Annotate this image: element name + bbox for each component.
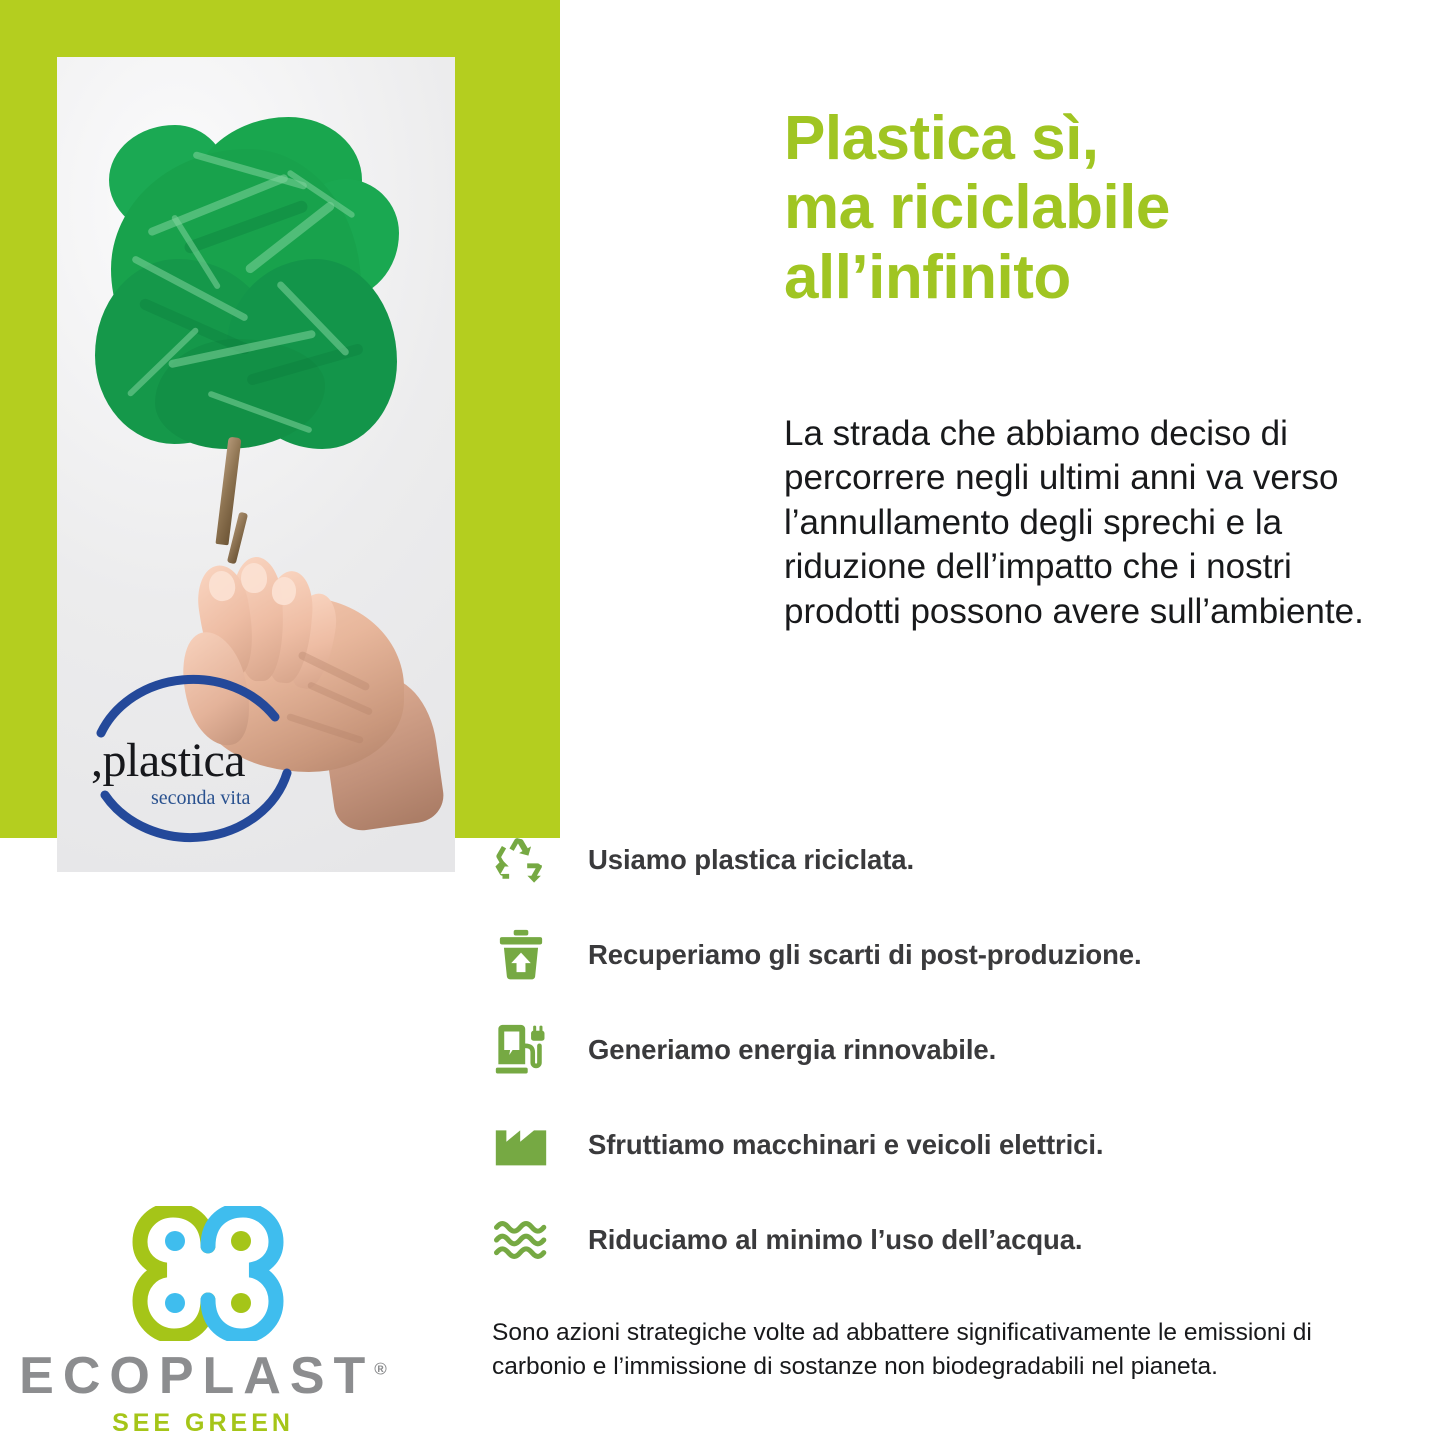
headline-line-1: Plastica sì, bbox=[784, 104, 1404, 173]
psv-wordmark: ,plastica bbox=[91, 733, 301, 788]
psv-word-text: plastica bbox=[103, 734, 246, 787]
list-item: Sfruttiamo macchinari e veicoli elettric… bbox=[492, 1097, 1392, 1192]
psv-subtitle: seconda vita bbox=[151, 787, 250, 810]
headline-line-2: ma riciclabile bbox=[784, 173, 1404, 242]
recycle-icon bbox=[492, 831, 550, 889]
page-title: Plastica sì, ma riciclabile all’infinito bbox=[784, 104, 1404, 312]
lede-paragraph: La strada che abbiamo deciso di percorre… bbox=[784, 412, 1384, 634]
company-tagline: SEE GREEN bbox=[18, 1409, 388, 1438]
poster-canvas: ,plastica seconda vita Plastica sì, ma r… bbox=[0, 0, 1445, 1445]
list-item: Generiamo energia rinnovabile. bbox=[492, 1002, 1392, 1097]
water-waves-icon bbox=[492, 1211, 550, 1269]
ecoplast-butterfly-icon bbox=[128, 1206, 288, 1341]
ev-charging-icon bbox=[492, 1021, 550, 1079]
psv-comma: , bbox=[91, 734, 103, 787]
plastic-bag-tree-canopy bbox=[95, 109, 395, 454]
list-item-label: Recuperiamo gli scarti di post-produzion… bbox=[588, 939, 1142, 971]
list-item: Usiamo plastica riciclata. bbox=[492, 812, 1392, 907]
company-logo: ECOPLAST® SEE GREEN bbox=[18, 1206, 388, 1431]
registered-mark: ® bbox=[374, 1360, 387, 1379]
list-item: Recuperiamo gli scarti di post-produzion… bbox=[492, 907, 1392, 1002]
list-item: Riduciamo al minimo l’uso dell’acqua. bbox=[492, 1192, 1392, 1287]
trash-recovery-icon bbox=[492, 926, 550, 984]
list-item-label: Usiamo plastica riciclata. bbox=[588, 844, 914, 876]
company-name: ECOPLAST bbox=[19, 1347, 374, 1405]
benefits-list: Usiamo plastica riciclata. Recuperiamo g… bbox=[492, 812, 1392, 1287]
list-item-label: Riduciamo al minimo l’uso dell’acqua. bbox=[588, 1224, 1082, 1256]
company-wordmark: ECOPLAST® bbox=[18, 1346, 388, 1406]
headline-line-3: all’infinito bbox=[784, 243, 1404, 312]
list-item-label: Generiamo energia rinnovabile. bbox=[588, 1034, 996, 1066]
hero-photo: ,plastica seconda vita bbox=[57, 57, 455, 872]
plastica-seconda-vita-logo: ,plastica seconda vita bbox=[79, 655, 309, 865]
list-item-label: Sfruttiamo macchinari e veicoli elettric… bbox=[588, 1129, 1103, 1161]
footnote-paragraph: Sono azioni strategiche volte ad abbatte… bbox=[492, 1316, 1392, 1384]
factory-icon bbox=[492, 1116, 550, 1174]
